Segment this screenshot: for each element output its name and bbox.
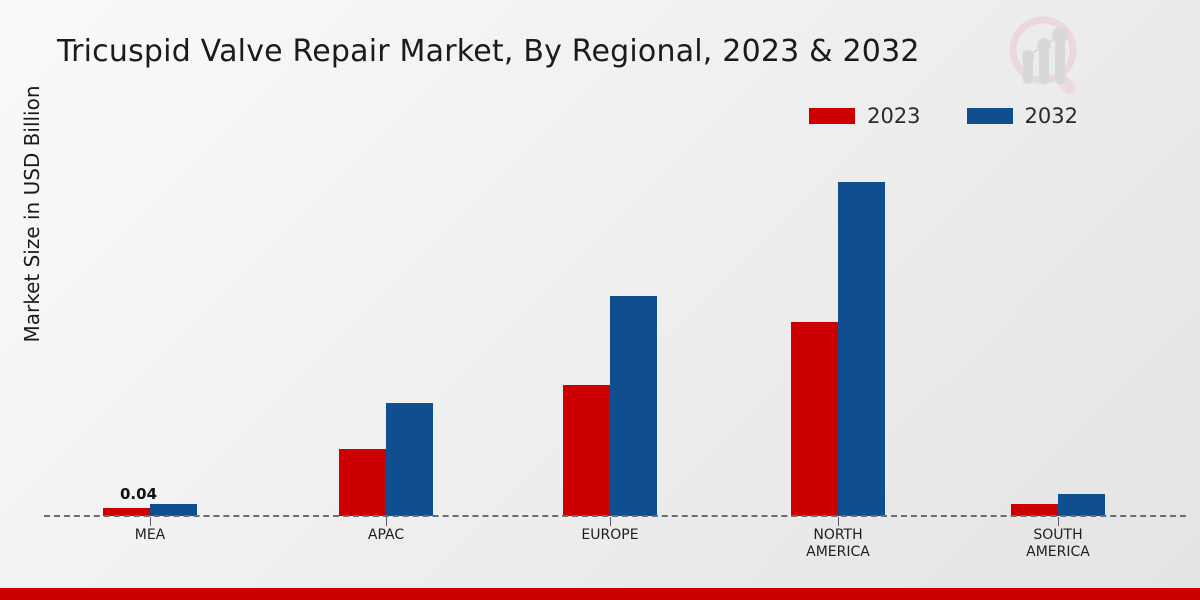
bar-north-america-2023[interactable] [791, 322, 838, 516]
bar-north-america-2032[interactable] [838, 182, 885, 516]
x-axis-tick [838, 517, 839, 526]
bar-apac-2032[interactable] [386, 403, 433, 516]
bar-pair [339, 140, 433, 516]
legend-swatch-2032-icon [967, 108, 1013, 124]
bottom-accent-bar [0, 588, 1200, 600]
bar-europe-2023[interactable] [563, 385, 610, 516]
chart-container: Tricuspid Valve Repair Market, By Region… [0, 0, 1200, 600]
x-axis-tick [610, 517, 611, 526]
y-axis-title: Market Size in USD Billion [20, 24, 44, 404]
legend-label-2032: 2032 [1025, 104, 1078, 128]
x-axis-tick [150, 517, 151, 526]
bar-europe-2032[interactable] [610, 296, 657, 516]
bar-pair [103, 140, 197, 516]
bar-group [1011, 140, 1105, 516]
bar-group [563, 140, 657, 516]
x-axis-label-europe: EUROPE [520, 527, 700, 544]
legend-swatch-2023-icon [809, 108, 855, 124]
plot-area: 0.04 [44, 140, 1184, 516]
bar-pair [563, 140, 657, 516]
x-axis-label-apac: APAC [296, 527, 476, 544]
bar-group [339, 140, 433, 516]
x-axis-label-south-america: SOUTHAMERICA [968, 527, 1148, 561]
bar-pair [1011, 140, 1105, 516]
x-axis-tick [386, 517, 387, 526]
chart-title: Tricuspid Valve Repair Market, By Region… [57, 34, 920, 69]
bar-apac-2023[interactable] [339, 449, 386, 516]
watermark-logo-icon [995, 8, 1095, 103]
x-axis-tick [1058, 517, 1059, 526]
bar-group [791, 140, 885, 516]
bar-pair [791, 140, 885, 516]
legend-item-2032[interactable]: 2032 [967, 104, 1078, 128]
x-axis-label-mea: MEA [60, 527, 240, 544]
x-axis-baseline [44, 515, 1186, 517]
bar-group: 0.04 [103, 140, 197, 516]
bar-south-america-2032[interactable] [1058, 494, 1105, 516]
bar-value-label: 0.04 [103, 485, 197, 503]
legend-item-2023[interactable]: 2023 [809, 104, 920, 128]
chart-legend: 2023 2032 [809, 104, 1078, 128]
x-axis-label-north-america: NORTHAMERICA [748, 527, 928, 561]
legend-label-2023: 2023 [867, 104, 920, 128]
